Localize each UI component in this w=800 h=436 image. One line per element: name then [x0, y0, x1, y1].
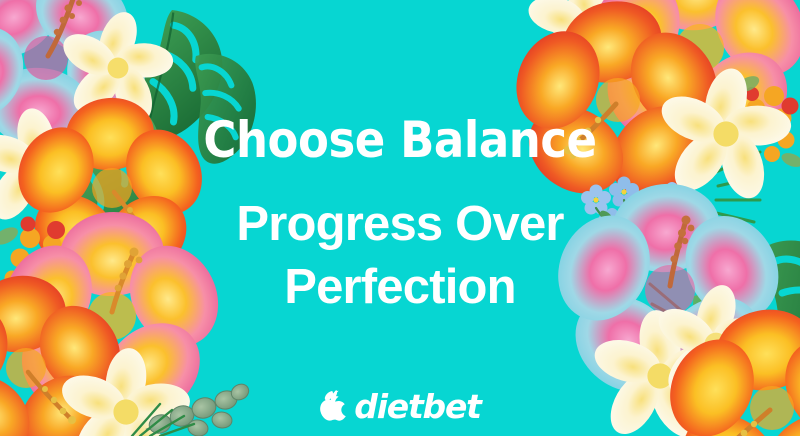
- subtitle-line-1: Progress Over: [0, 193, 800, 256]
- banner-content: Choose Balance Progress Over Perfection …: [0, 0, 800, 436]
- subtitle: Progress Over Perfection: [0, 193, 800, 319]
- subtitle-line-2: Perfection: [0, 256, 800, 319]
- logo-wordmark: dietbet: [354, 390, 480, 423]
- page-title: Choose Balance: [40, 112, 760, 168]
- promo-banner: Choose Balance Progress Over Perfection …: [0, 0, 800, 436]
- apple-icon: [319, 390, 349, 423]
- dietbet-logo[interactable]: dietbet: [0, 390, 800, 423]
